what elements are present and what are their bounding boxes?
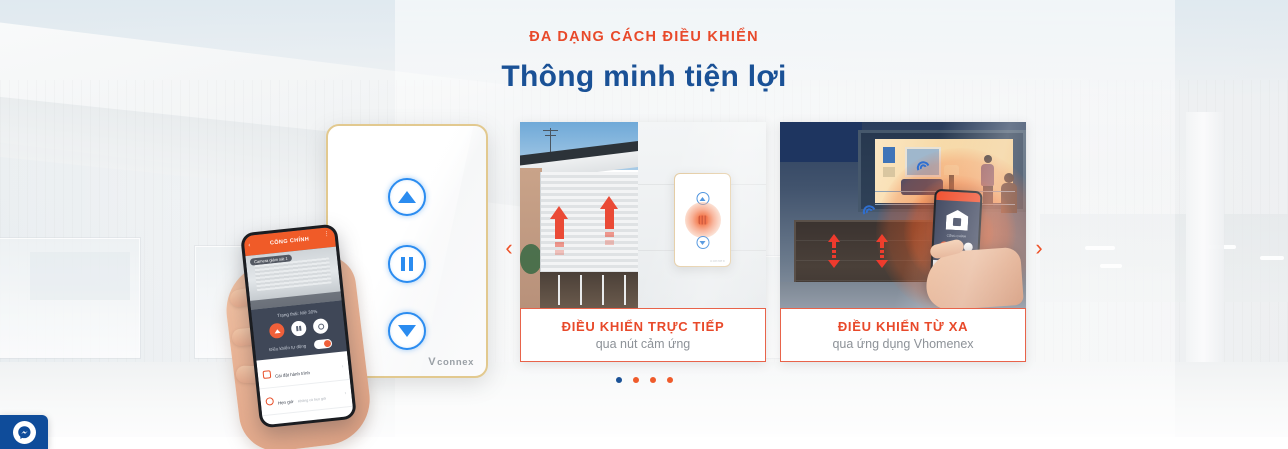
automation-label: Điều khiển tự động	[269, 343, 306, 352]
clock-icon	[265, 397, 274, 406]
carousel-card[interactable]: connex ĐIỀU KHIỂN TRỰC TIẾP qua nút cảm …	[520, 122, 766, 362]
hand-holding-phone: ‹ CỔNG CHÍNH ⋮ Camera giám sát 1 Trạng t…	[228, 224, 378, 449]
camera-preview[interactable]: Camera giám sát 1	[245, 247, 341, 310]
chevron-right-icon: ›	[344, 390, 346, 396]
carousel-dot[interactable]	[650, 377, 656, 383]
switch-down-button[interactable]	[388, 312, 426, 350]
triangle-down-icon	[398, 325, 416, 337]
phone-screen: ‹ CỔNG CHÍNH ⋮ Camera giám sát 1 Trạng t…	[243, 227, 353, 425]
night-sky	[780, 122, 862, 162]
wall-art	[883, 167, 895, 177]
app-stop-button[interactable]	[312, 318, 328, 334]
more-menu-icon[interactable]: ⋮	[324, 233, 330, 237]
settings-list: Cài đặt hành trình › Hẹn giờ Không có hẹ…	[256, 351, 353, 425]
switch-up-button[interactable]	[388, 178, 426, 216]
pause-icon	[401, 257, 413, 271]
vconnex-logo: connex	[710, 258, 725, 263]
carousel-dot[interactable]	[667, 377, 673, 383]
triangle-up-icon	[398, 191, 416, 203]
vconnex-logo: V connex	[428, 357, 474, 368]
arrow-up-icon	[600, 196, 618, 245]
mini-down-button	[696, 236, 709, 249]
carousel-dot[interactable]	[616, 377, 622, 383]
back-icon[interactable]: ‹	[248, 243, 251, 249]
antenna	[550, 128, 551, 154]
background-column	[1186, 112, 1224, 402]
switch-pause-button[interactable]	[388, 245, 426, 283]
automation-toggle[interactable]	[314, 339, 333, 350]
touch-ripple-icon	[685, 202, 721, 238]
device-name: CỔNG CHÍNH	[934, 233, 978, 239]
wall-art	[883, 147, 895, 163]
background-ceiling-lamp	[1260, 256, 1284, 260]
app-header	[936, 191, 980, 202]
glass-door-row	[540, 272, 642, 308]
control-buttons	[259, 317, 339, 340]
card-subtitle: qua ứng dụng Vhomenex	[832, 337, 973, 351]
pause-icon	[296, 326, 301, 331]
list-item-subtitle: Không có hẹn giờ	[298, 397, 327, 404]
arrow-up-icon	[550, 206, 568, 255]
phone-device: ‹ CỔNG CHÍNH ⋮ Camera giám sát 1 Trạng t…	[240, 223, 357, 428]
section-headline: Thông minh tiện lợi	[0, 60, 1288, 94]
vconnex-logo-text: connex	[437, 357, 474, 368]
card-image-direct-control: connex	[520, 122, 766, 308]
section-eyebrow: ĐA DẠNG CÁCH ĐIỀU KHIỂN	[0, 29, 1288, 45]
page-root: ĐA DẠNG CÁCH ĐIỀU KHIỂN Thông minh tiện …	[0, 0, 1288, 449]
app-open-button[interactable]	[269, 323, 285, 339]
brick-wall	[520, 168, 542, 308]
app-pause-button[interactable]	[291, 320, 307, 336]
triangle-up-icon	[274, 328, 280, 333]
list-item-title: Hẹn giờ	[278, 399, 294, 406]
stop-icon	[317, 323, 324, 330]
bell-icon	[268, 424, 277, 425]
triangle-down-icon	[700, 241, 706, 245]
messenger-icon	[13, 421, 36, 444]
carousel-dot[interactable]	[633, 377, 639, 383]
bush	[520, 244, 542, 274]
card-title: ĐIỀU KHIỂN TRỰC TIẾP	[562, 319, 725, 334]
background-window-pane	[30, 252, 130, 300]
mini-wall-switch: connex	[674, 173, 731, 267]
page-bottom-strip	[0, 437, 1288, 449]
card-caption: ĐIỀU KHIỂN TỪ XA qua ứng dụng Vhomenex	[780, 308, 1026, 362]
triangle-up-icon	[700, 197, 706, 201]
card-subtitle: qua nút cảm ứng	[596, 337, 691, 351]
garage-icon	[946, 209, 969, 230]
carousel-prev-button[interactable]: ‹	[498, 233, 520, 263]
card-title: ĐIỀU KHIỂN TỪ XA	[838, 319, 968, 334]
list-item-text: Hẹn giờ Không có hẹn giờ	[277, 385, 342, 410]
app-title: CỔNG CHÍNH	[270, 236, 310, 246]
carousel-dots	[0, 377, 1288, 383]
messenger-chat-button[interactable]	[0, 415, 48, 449]
carousel-card[interactable]: CỔNG CHÍNH Trạng thái: Mở 30% › › ›	[780, 122, 1026, 362]
feature-carousel: connex ĐIỀU KHIỂN TRỰC TIẾP qua nút cảm …	[498, 118, 1054, 394]
chevron-right-icon: ›	[342, 364, 344, 370]
card-image-remote-control: CỔNG CHÍNH Trạng thái: Mở 30% › › ›	[780, 122, 1026, 308]
arrow-bidirectional-icon	[828, 234, 840, 268]
card-caption: ĐIỀU KHIỂN TRỰC TIẾP qua nút cảm ứng	[520, 308, 766, 362]
vconnex-logo-mark: V	[428, 357, 436, 368]
carousel-next-button[interactable]: ›	[1028, 233, 1050, 263]
